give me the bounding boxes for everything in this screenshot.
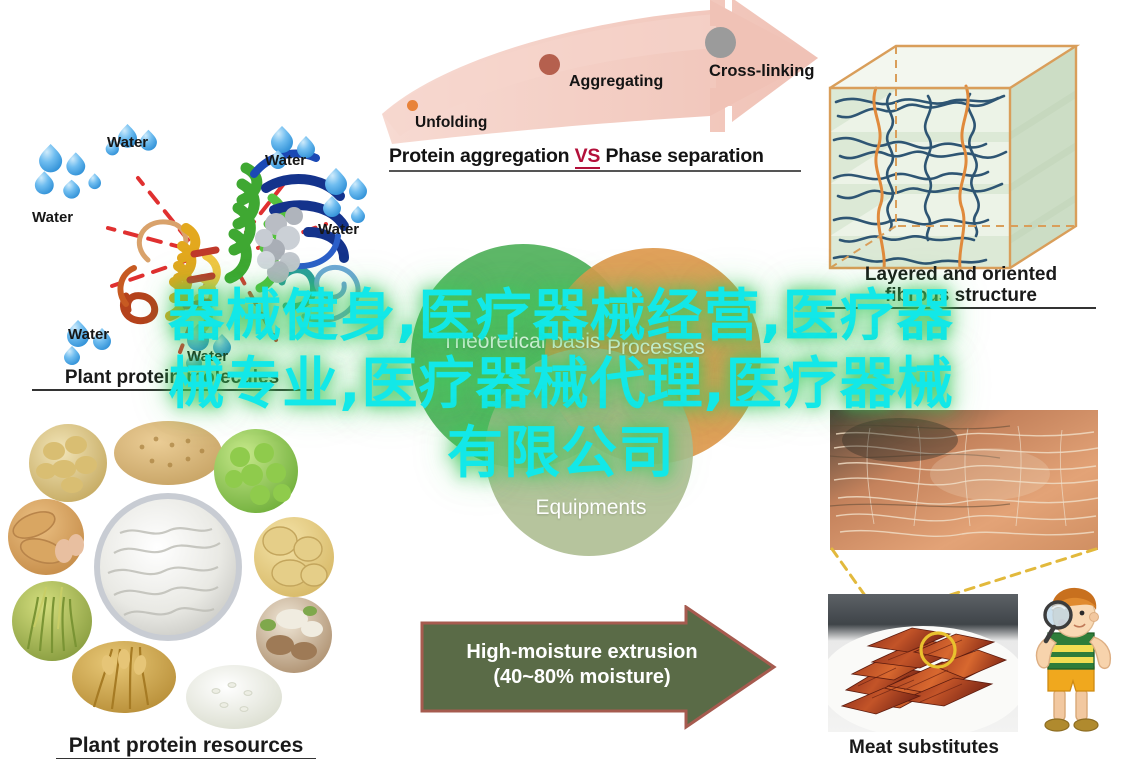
extrusion-line1: High-moisture extrusion [432, 640, 732, 665]
venn-label-processes: Processes [591, 336, 721, 360]
plant-protein-resources-panel [2, 415, 342, 759]
stage-label-cross-linking: Cross-linking [709, 62, 814, 81]
venn-label-equipments: Equipments [511, 496, 671, 520]
fibrous-microstructure-photo [830, 410, 1098, 550]
layered-caption-line2: fibrous structure [885, 285, 1037, 306]
layered-fibrous-structure-diagram [824, 36, 1092, 276]
layered-caption-line1: Layered and oriented [865, 264, 1057, 285]
extrusion-line2: (40~80% moisture) [432, 665, 732, 690]
resource-rice-plants [12, 581, 92, 661]
layered-structure-caption: Layered and oriented fibrous structure [826, 264, 1096, 309]
cartoon-boy-with-magnifier [1024, 585, 1120, 735]
water-label: Water [265, 152, 306, 169]
meat-substitutes-photo [828, 594, 1018, 732]
water-label: Water [32, 209, 73, 226]
title-part-phase-separation: Phase separation [600, 145, 764, 167]
resource-peanuts [8, 499, 84, 575]
stage-label-unfolding: Unfolding [415, 114, 487, 132]
venn-label-theoretical-basis: Theoretical basis [441, 330, 601, 354]
resource-white-rice [186, 665, 282, 729]
water-label: Water [68, 326, 109, 343]
resource-mushrooms [256, 597, 332, 673]
figure-title: Protein aggregation VS Phase separation [389, 145, 801, 172]
figure-canvas: Unfolding Aggregating Cross-linking Prot… [0, 0, 1122, 759]
venn-circle-equipments [485, 348, 693, 556]
meat-substitutes-caption: Meat substitutes [828, 738, 1020, 759]
venn-diagram: Theoretical basis Processes Equipments [395, 238, 785, 558]
water-label: Water [187, 348, 228, 365]
unfolding-dot [407, 100, 418, 111]
resource-green-peas [214, 429, 298, 513]
resource-potatoes [254, 517, 334, 597]
water-label: Water [107, 134, 148, 151]
resource-wheat-bran [114, 421, 222, 485]
stage-label-aggregating: Aggregating [569, 73, 663, 91]
resource-wheat-ears [72, 641, 176, 713]
title-vs-word: VS [575, 145, 601, 169]
title-part-aggregation: Protein aggregation [389, 145, 575, 167]
water-label: Water [318, 221, 359, 238]
extrusion-arrow-label: High-moisture extrusion (40~80% moisture… [432, 640, 732, 690]
plant-protein-resources-caption: Plant protein resources [56, 735, 316, 759]
cross-linking-dot [705, 27, 736, 58]
aggregating-dot [539, 54, 560, 75]
resource-soybeans [29, 424, 107, 502]
plant-protein-molecules-caption: Plant protein molecules [32, 368, 312, 391]
